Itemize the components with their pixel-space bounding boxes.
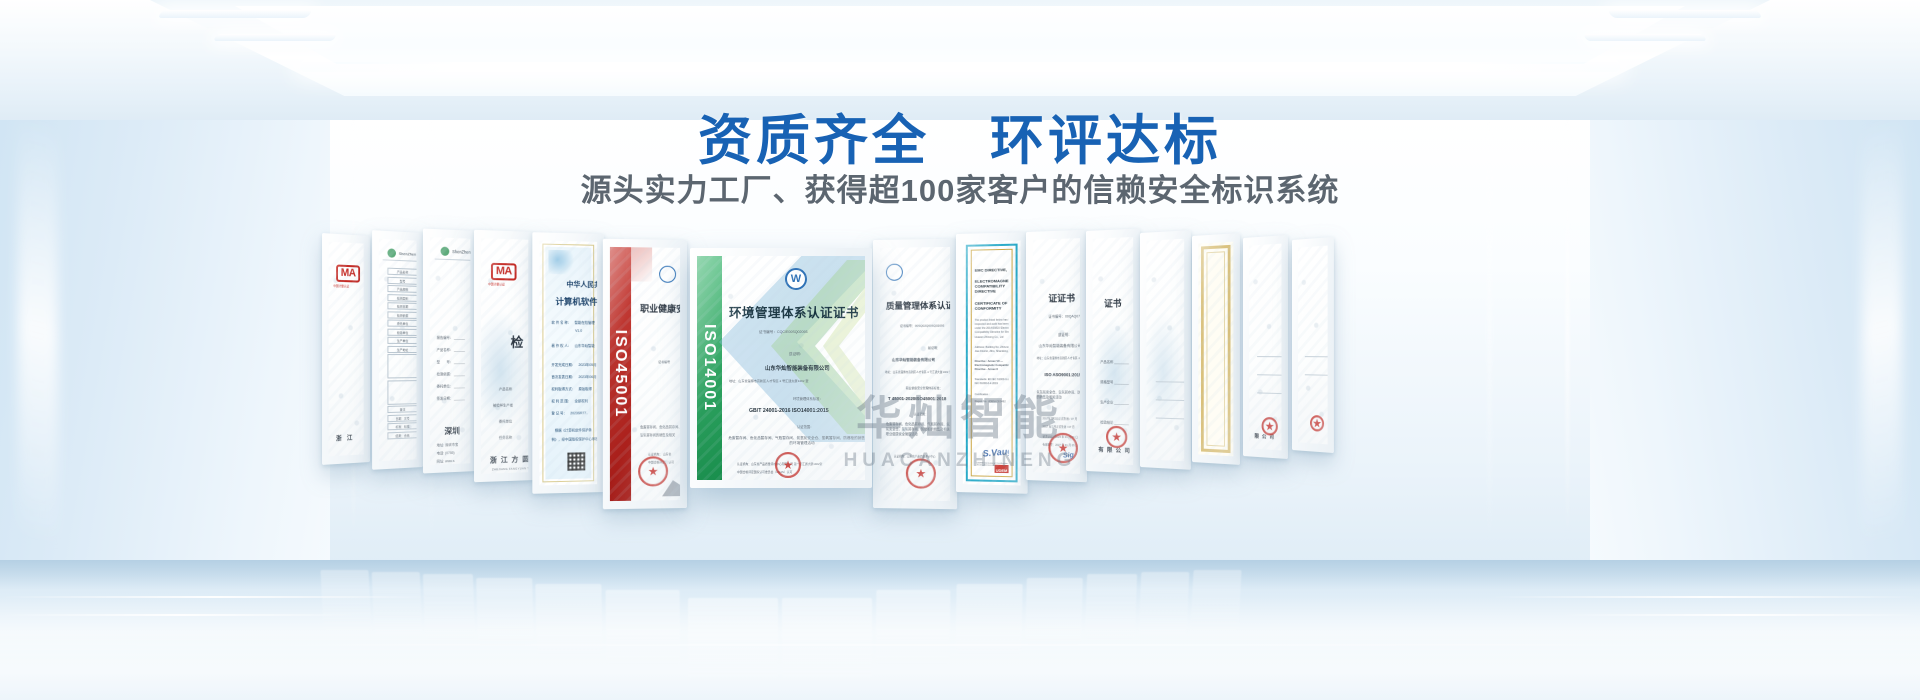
- agency-logo-icon: [387, 248, 396, 258]
- red-stamp-seal: [1106, 426, 1127, 449]
- company-name: 山东华灿智能装备有限公司: [892, 358, 935, 363]
- mountain-graphic: [662, 480, 680, 496]
- certificate-sheet: 证书 产品名称 ________ 规格型号 ________ 生产企业 ____…: [1093, 237, 1134, 465]
- certificate-sheet: [1198, 242, 1233, 457]
- certificate-sheet: 中华人民共和国 计算机软件著作权登记证书 软 件 名 称： 智能在险管理 V1.…: [539, 240, 597, 485]
- standard-code: GB/T 24001-2016 ISO14001:2015: [749, 408, 829, 414]
- certificate-title: 环境管理体系认证证书: [729, 302, 859, 321]
- certificate-sheet: MA 中国计量认证 检 产品名称 被检样生产者 委托单位 任务名称 浙 江 方 …: [481, 238, 528, 474]
- page-title: 资质齐全 环评达标: [0, 96, 1920, 175]
- signature: Sig: [1063, 452, 1074, 460]
- certificate-sheet: 限 公 司: [1249, 244, 1281, 451]
- certificate-generic-zhengshu[interactable]: 证证书 证书编号：00QAQ0709K 兹证明： 山东华灿智能装备有限公司 地址…: [1026, 230, 1087, 483]
- scope-text: 危废暂存间、危化品暂存间、气瓶暂存间、氮氩氦安全仓、氢氧暂存间、防爆柜的销售及相…: [727, 436, 865, 447]
- certificate-sheet: ISO45001 职业健康安全 证书编号 危废暂存间、危化品暂存间、 氢氧暂存间…: [610, 247, 680, 501]
- certificate-software-copyright[interactable]: 中华人民共和国 计算机软件著作权登记证书 软 件 名 称： 智能在险管理 V1.…: [532, 232, 604, 494]
- certificate-ce-emc-directive[interactable]: EMC DIRECTIVE, ELECTROMAGNETIC COMPATIBI…: [956, 232, 1028, 494]
- agency-name: ShenZhen: [452, 249, 470, 255]
- signature: S.Vaughn: [982, 445, 1008, 459]
- page-subtitle: 源头实力工厂、获得超100家客户的信赖安全标识系统: [0, 165, 1920, 210]
- cnas-seal-icon: [886, 264, 903, 281]
- certificate-fields: 软 件 名 称： 智能在险管理 V1.0 著 作 权 人： 山东华灿智能 开发完…: [551, 320, 597, 442]
- certificate-sheet: 质量管理体系认证证书 证书编号：00SQ02Q00SQ02093 兹证明： 山东…: [880, 247, 950, 501]
- certificate-fields: 报告编号： ______ 产品名称： ______ 型 号： ______ 检测…: [437, 335, 465, 401]
- iso45001-band-label: ISO45001: [611, 330, 629, 419]
- certificate-field-list: 产品名称 型号 产品规格 检测类别 检测日期 检测依据 委托单位 检验单位 生产…: [387, 268, 416, 439]
- certificate-test-report-shenzhen-2[interactable]: ShenZhen 报告编号： ______ 产品名称： ______ 型 号： …: [423, 229, 477, 474]
- ma-badge-subtext: 中国计量认证: [488, 282, 505, 286]
- certificate-title-line2: 计算机软件著作权登记证书: [555, 295, 597, 308]
- certificate-generic-right-3[interactable]: 限 公 司: [1243, 235, 1288, 459]
- certificate-title-line1: 中华人民共和国: [566, 279, 597, 290]
- certificate-globe-graphic: [481, 309, 528, 431]
- company-label: 兹证明：: [789, 352, 803, 357]
- certificate-org: 深圳: [444, 425, 459, 437]
- udem-logo-icon: UDEM: [995, 465, 1009, 473]
- agency-logo-icon: [441, 247, 450, 256]
- iso45001-side-band: ISO45001: [610, 247, 631, 501]
- certificate-generic-right-1[interactable]: 证书 产品名称 ________ 规格型号 ________ 生产企业 ____…: [1086, 229, 1140, 474]
- certificate-globe-graphic: [1093, 318, 1134, 430]
- standard-label: 环境管理体系标准：: [793, 396, 823, 401]
- certificate-number: 证书编号：CQC/E00SQ02093: [759, 330, 808, 335]
- certificate-test-report-shenzhen-1[interactable]: ShenZhen 产品名称 型号 产品规格 检测类别 检测日期 检测依据 委托单…: [372, 230, 423, 470]
- qr-code: [567, 452, 585, 470]
- red-stamp-seal: [638, 456, 668, 486]
- certificate-title: 职业健康安全: [640, 302, 680, 315]
- divider: [1305, 374, 1328, 376]
- ce-body-lines: The product listed below has been inspec…: [975, 318, 1009, 403]
- red-stamp-seal: [906, 458, 936, 488]
- scope-label: 认证范围：: [797, 424, 813, 429]
- certificate-sheet: ISO14001 W 环境管理体系认证证书 证书编号：CQC/E00SQ0209…: [697, 256, 865, 480]
- certificate-org: 浙 江: [336, 433, 354, 443]
- certificate-org: 浙 江 方 圆: [490, 454, 528, 465]
- certificate-sheet: 证证书 证书编号：00QAQ0709K 兹证明： 山东华灿智能装备有限公司 地址…: [1033, 238, 1080, 474]
- certificate-generic-right-4[interactable]: [1292, 237, 1334, 453]
- scope-text: 危废暂存间、危化品暂存间、气瓶暂存间、氮氩氦安全仓、氢氧暂存间、防爆柜的销售及相…: [886, 422, 950, 437]
- divider: [1257, 374, 1281, 375]
- company-address: 地址：山东省淄博市高新区人才专区-1 号汇通大厦1402 室: [729, 378, 808, 383]
- certificate-sheet: ShenZhen 产品名称 型号 产品规格 检测类别 检测日期 检测依据 委托单…: [379, 239, 417, 462]
- page-title-part2: 环评达标: [990, 111, 1222, 171]
- certificate-inspection-report-zhejiang[interactable]: MA 中国计量认证 浙 江: [322, 233, 370, 465]
- divider: [435, 259, 471, 262]
- corner-accent: [626, 247, 652, 281]
- certificate-title: 证书: [1104, 296, 1121, 309]
- page-title-part1: 资质齐全: [698, 111, 930, 171]
- certificate-inspection-fangyuan[interactable]: MA 中国计量认证 检 产品名称 被检样生产者 委托单位 任务名称 浙 江 方 …: [474, 230, 535, 483]
- certificate-wall-banner: 资质齐全 环评达标 源头实力工厂、获得超100家客户的信赖安全标识系统: [0, 0, 1920, 700]
- ce-title-line3: CERTIFICATE OF CONFORMITY: [975, 300, 1009, 311]
- red-stamp-seal: [775, 452, 801, 478]
- certificate-number: 证书编号：00SQ02Q00SQ02093: [900, 324, 945, 328]
- certificate-sheet: [1146, 239, 1184, 462]
- certificate-globe-graphic: [1146, 310, 1184, 432]
- certificate-watermark: [1298, 246, 1328, 445]
- company-name: 山东华灿智能装备有限公司: [765, 364, 830, 372]
- ma-badge-subtext: 中国计量认证: [333, 284, 349, 289]
- company-address: 地址：山东省淄博市高新区人才专区-1 号汇通大厦1402 室: [885, 370, 950, 374]
- cnas-seal-icon: W: [785, 268, 807, 290]
- red-stamp-seal: [1310, 415, 1324, 432]
- certificate-title: 质量管理体系认证证书: [886, 299, 950, 312]
- certificate-sheet: EMC DIRECTIVE, ELECTROMAGNETIC COMPATIBI…: [963, 240, 1021, 485]
- certificate-iso45001[interactable]: ISO45001 职业健康安全 证书编号 危废暂存间、危化品暂存间、 氢氧暂存间…: [603, 239, 687, 510]
- agency-name: ShenZhen: [399, 251, 416, 257]
- divider: [383, 259, 417, 262]
- certificate-honor-gold-border[interactable]: [1192, 233, 1240, 465]
- certificate-quality-management[interactable]: 质量管理体系认证证书 证书编号：00SQ02Q00SQ02093 兹证明： 山东…: [873, 239, 957, 510]
- ornament-graphic: [548, 250, 578, 275]
- ce-title-line1: EMC DIRECTIVE,: [975, 267, 1009, 273]
- certificate-inner-panel: 中华人民共和国 计算机软件著作权登记证书 软 件 名 称： 智能在险管理 V1.…: [545, 247, 591, 480]
- ce-title-line2: ELECTROMAGNETIC COMPATIBILITY DIRECTIVE: [975, 278, 1009, 294]
- certificate-sheet: MA 中国计量认证 浙 江: [329, 242, 364, 457]
- certificate-sheet: [1298, 246, 1328, 445]
- certificate-title: 检: [511, 332, 524, 351]
- certificate-iso14001[interactable]: ISO14001 W 环境管理体系认证证书 证书编号：CQC/E00SQ0209…: [690, 248, 872, 488]
- ma-badge-icon: MA: [491, 263, 517, 281]
- standard-code: T 45001-2020ISO45001:2018: [888, 396, 946, 401]
- certificate-gold-inner-border: [1206, 251, 1224, 446]
- divider: [1305, 356, 1328, 357]
- cnas-seal-icon: [659, 266, 676, 283]
- divider: [1257, 392, 1281, 394]
- certificate-sheet: ShenZhen 报告编号： ______ 产品名称： ______ 型 号： …: [430, 237, 471, 465]
- certificate-generic-right-2[interactable]: [1140, 230, 1191, 470]
- ma-badge-icon: MA: [336, 264, 360, 282]
- certificate-title: 证证书: [1048, 291, 1075, 305]
- iso14001-band-label: ISO14001: [701, 324, 719, 412]
- certificate-body: EMC DIRECTIVE, ELECTROMAGNETIC COMPATIBI…: [975, 253, 1009, 473]
- divider: [1257, 356, 1281, 357]
- red-stamp-seal: [1262, 417, 1278, 436]
